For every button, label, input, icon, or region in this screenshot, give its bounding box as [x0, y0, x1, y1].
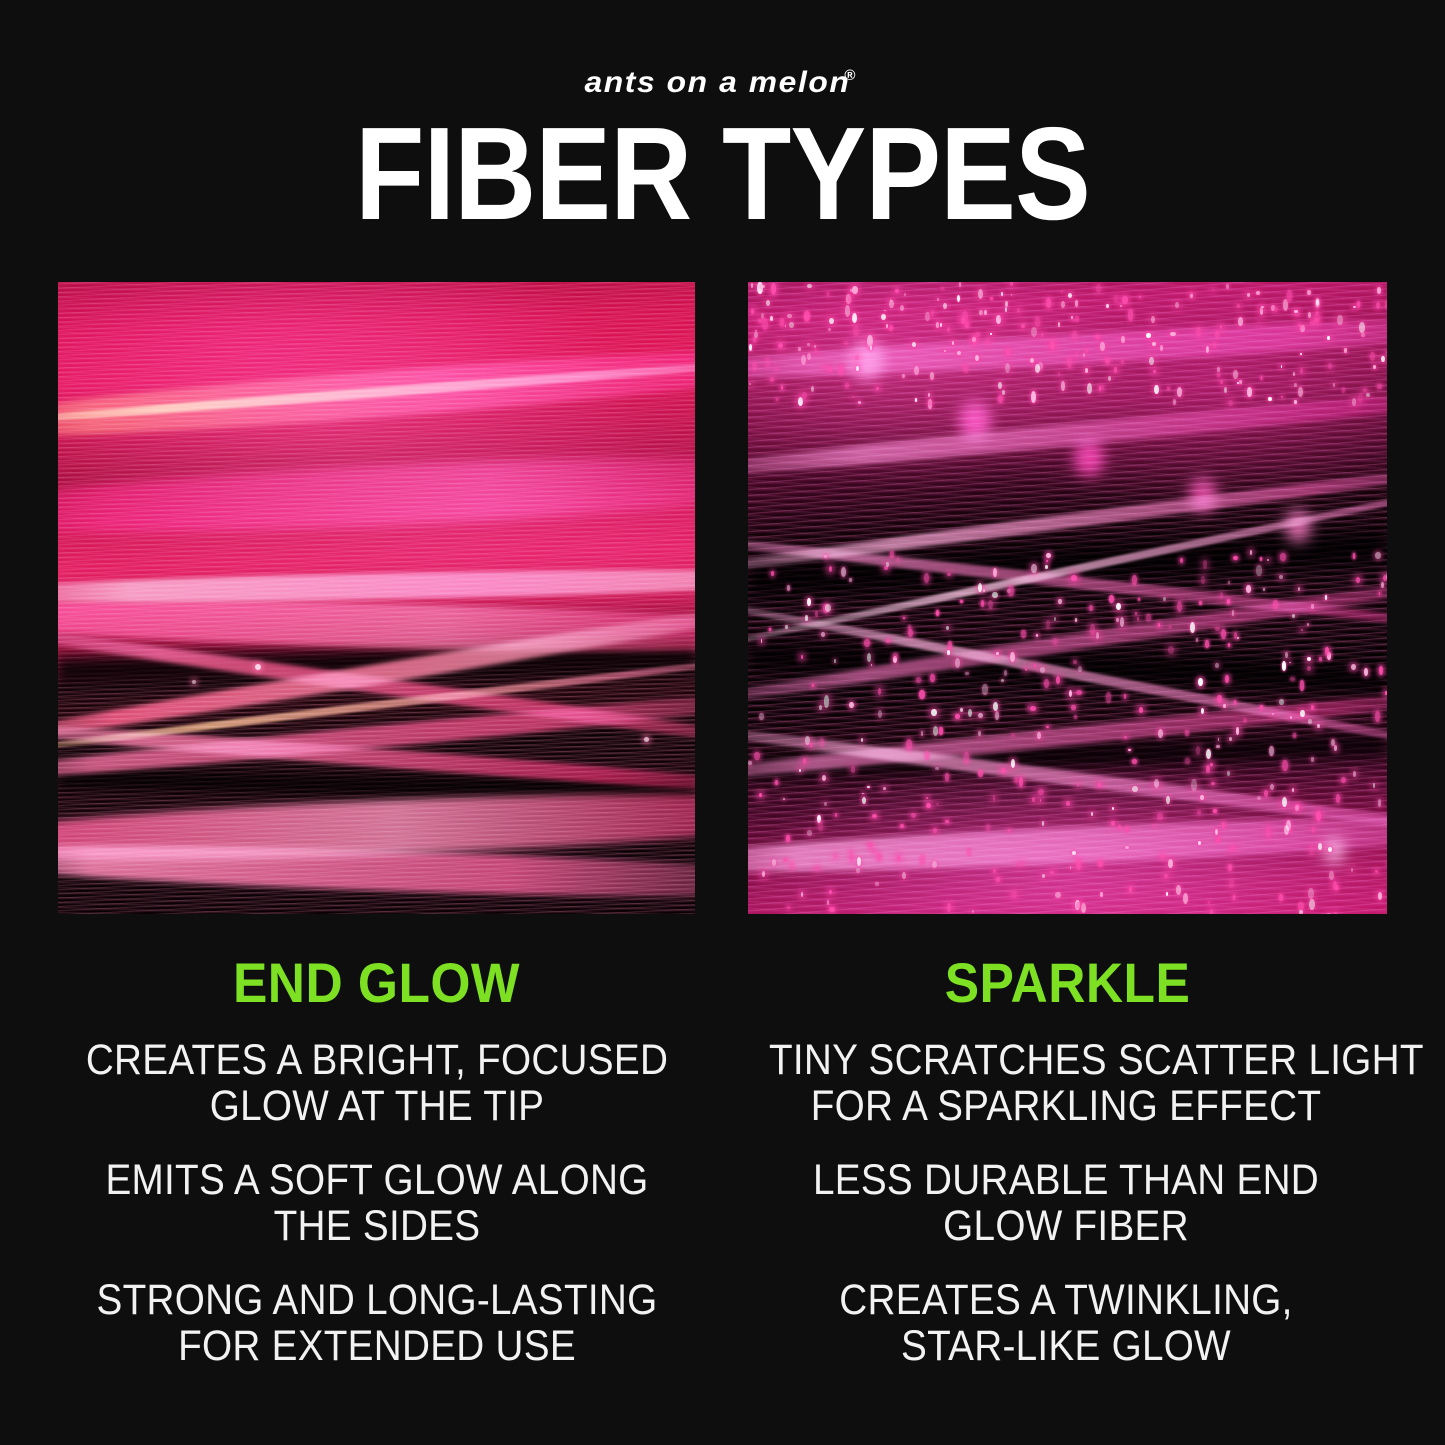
sparkle-dot — [1010, 282, 1013, 286]
sparkle-dot — [1042, 821, 1044, 825]
bullet-line: STRONG AND LONG-LASTING — [85, 1277, 670, 1323]
sparkle-dot — [1198, 841, 1201, 845]
sparkle-dot — [1377, 384, 1382, 389]
sparkle-dot — [1019, 863, 1022, 865]
sparkle-dot — [902, 374, 905, 378]
sparkle-dot — [1298, 387, 1303, 397]
sparkle-dot — [1046, 560, 1048, 562]
sparkle-dot — [1279, 894, 1283, 901]
bullet-line: LESS DURABLE THAN END — [769, 1157, 1363, 1203]
sparkle-dot — [1046, 620, 1050, 629]
sparkle-dot — [1298, 587, 1300, 591]
sparkle-dot — [1046, 726, 1049, 729]
sparkle-dot — [1358, 393, 1363, 403]
sparkle-dot — [943, 303, 947, 309]
sparkle-dot — [1109, 595, 1114, 602]
sparkle-dot — [1216, 837, 1220, 844]
sparkle-dot — [1218, 738, 1220, 741]
sparkle-dot — [955, 658, 960, 668]
sparkle-dot — [925, 751, 929, 760]
sparkle-dot — [1128, 749, 1130, 751]
list-item: STRONG AND LONG-LASTING FOR EXTENDED USE — [85, 1277, 670, 1369]
sparkle-dot — [1301, 629, 1303, 631]
sparkle-dot — [815, 349, 817, 353]
brand-logo: ants on a melon® — [0, 68, 1445, 98]
sparkle-dot — [819, 705, 822, 710]
sparkle-dot — [936, 803, 938, 805]
sparkle-dot — [1375, 711, 1380, 722]
sparkle-dot — [1089, 605, 1093, 611]
sparkle-dot — [1292, 614, 1295, 619]
column-heading-end-glow: END GLOW — [83, 955, 669, 1011]
sparkle-dot — [1168, 646, 1174, 655]
sparkle-dot — [878, 710, 882, 718]
sparkle-dot — [1146, 333, 1151, 338]
bokeh-highlight — [959, 402, 991, 440]
sparkle-dot — [1293, 733, 1296, 739]
sparkle-dot — [1120, 617, 1124, 627]
sparkle-dot — [1311, 705, 1314, 710]
sparkle-dot — [1267, 559, 1269, 561]
sparkle-dot — [1246, 585, 1251, 593]
sparkle-dot — [821, 632, 825, 637]
sparkle-dot — [1137, 617, 1139, 621]
sparkle-dot — [802, 392, 807, 400]
sparkle-dot — [1373, 365, 1376, 369]
sparkle-dot — [911, 813, 916, 818]
bullet-line: GLOW AT THE TIP — [85, 1083, 670, 1129]
sparkle-dot — [1106, 304, 1109, 308]
sparkle-dot — [1021, 630, 1025, 638]
sparkle-dot — [1307, 290, 1311, 294]
sparkle-dot — [1101, 385, 1104, 390]
sparkle-dot — [1334, 912, 1337, 914]
sparkle-dot — [1153, 370, 1156, 373]
sparkle-dot — [1076, 690, 1082, 695]
sparkle-dot — [775, 780, 778, 786]
fiber-tip-glow — [192, 680, 196, 684]
sparkle-dot — [827, 292, 829, 296]
sparkle-dot — [1129, 887, 1132, 893]
sparkle-dot — [931, 310, 935, 317]
sparkle-dot — [1247, 293, 1250, 297]
sparkle-dot — [852, 396, 855, 398]
sparkle-dot — [1030, 706, 1036, 711]
sparkle-dot — [1114, 295, 1119, 303]
sparkle-dot — [1290, 716, 1292, 719]
sparkle-dot — [1378, 799, 1382, 807]
sparkle-dot — [1375, 552, 1381, 559]
sparkle-dot — [1091, 812, 1093, 816]
sparkle-dot — [850, 854, 854, 862]
sparkle-dot — [1284, 825, 1289, 835]
sparkle-dot — [1076, 902, 1081, 910]
sparkle-dot — [807, 353, 811, 361]
sparkle-dot — [1035, 317, 1040, 327]
sparkle-dot — [919, 690, 925, 699]
sparkle-dot — [1279, 699, 1283, 705]
sparkle-dot — [947, 650, 950, 655]
page-title: FIBER TYPES — [101, 108, 1344, 240]
sparkle-dot — [1006, 349, 1010, 355]
sparkle-dot — [807, 284, 811, 288]
sparkle-dot — [1001, 292, 1003, 296]
sparkle-dot — [1028, 706, 1030, 708]
sparkle-dot — [1327, 336, 1330, 340]
bullet-line: TINY SCRATCHES SCATTER LIGHT — [769, 1037, 1363, 1083]
sparkle-dot — [998, 395, 1003, 403]
sparkle-dot — [1017, 308, 1020, 312]
sparkle-dot — [914, 366, 919, 375]
sparkle-dot — [815, 866, 819, 871]
sparkle-dot — [1154, 779, 1159, 788]
sparkle-dot — [1031, 564, 1036, 573]
sparkle-dot — [886, 639, 890, 644]
sparkle-dot — [758, 319, 762, 322]
sparkle-dot — [978, 731, 981, 736]
sparkle-dot — [759, 713, 764, 721]
sparkle-dot — [1314, 318, 1319, 324]
sparkle-dot — [844, 341, 848, 345]
sparkle-dot — [1055, 892, 1061, 898]
sparkle-dot — [1293, 372, 1295, 376]
sparkle-dot — [1237, 637, 1239, 639]
sparkle-dot — [1160, 345, 1163, 351]
sparkle-dot — [1308, 719, 1312, 724]
sparkle-dot — [1176, 885, 1181, 895]
sparkle-dot — [1287, 290, 1293, 302]
sparkle-dot — [965, 322, 969, 328]
sparkle-dot — [1256, 565, 1261, 576]
sparkle-dot — [992, 592, 998, 598]
sparkle-dot — [867, 786, 870, 789]
sparkle-dot — [1260, 557, 1263, 561]
sparkle-dot — [1386, 351, 1387, 355]
sparkle-dot — [978, 713, 983, 718]
sparkle-dot — [993, 795, 995, 800]
sparkle-dot — [986, 824, 990, 831]
sparkle-dot — [1073, 660, 1077, 664]
sparkle-dot — [933, 828, 936, 834]
sparkle-dot — [829, 890, 832, 894]
sparkle-dot — [1116, 603, 1121, 610]
sparkle-dot — [1260, 307, 1264, 315]
sparkle-dot — [1201, 708, 1204, 714]
sparkle-dot — [1233, 370, 1238, 379]
sparkle-dot — [946, 626, 949, 630]
bullet-list-sparkle: TINY SCRATCHES SCATTER LIGHT FOR A SPARK… — [769, 1037, 1363, 1397]
sparkle-dot — [1008, 829, 1010, 832]
sparkle-dot — [877, 853, 882, 861]
list-item: CREATES A BRIGHT, FOCUSED GLOW AT THE TI… — [85, 1037, 670, 1129]
sparkle-dot — [1280, 553, 1285, 561]
sparkle-dot — [978, 770, 983, 777]
sparkle-dot — [1381, 582, 1384, 589]
sparkle-dot — [1319, 657, 1321, 661]
sparkle-dot — [1356, 577, 1360, 583]
sparkle-dot — [784, 859, 787, 861]
sparkle-dot — [1378, 892, 1382, 900]
sparkle-dot — [1223, 704, 1225, 708]
sparkle-dot — [964, 752, 969, 763]
bullet-line: CREATES A TWINKLING, — [769, 1277, 1363, 1323]
sparkle-dot — [1166, 892, 1168, 896]
column-heading-sparkle: SPARKLE — [774, 955, 1362, 1011]
sparkle-dot — [1031, 327, 1037, 337]
sparkle-dot — [1114, 367, 1117, 372]
sparkle-dot — [1098, 860, 1102, 867]
sparkle-dot — [1213, 342, 1216, 348]
sparkle-dot — [1074, 715, 1077, 719]
sparkle-dot — [1211, 782, 1214, 785]
sparkle-dot — [1031, 391, 1036, 403]
sparkle-dot — [1379, 666, 1384, 676]
sparkle-dot — [1183, 893, 1188, 904]
sparkle-dot — [838, 365, 844, 375]
sparkle-dot — [1282, 797, 1287, 807]
sparkle-dot — [931, 709, 937, 716]
sparkle-dot — [982, 684, 987, 695]
sparkle-dot — [968, 709, 972, 717]
sparkle-dot — [1386, 573, 1387, 580]
sparkle-dot — [1261, 306, 1264, 309]
sparkle-dot — [1072, 331, 1077, 340]
sparkle-dot — [1300, 710, 1305, 717]
sparkle-dot — [1005, 363, 1010, 373]
sparkle-dot — [993, 568, 997, 577]
sparkle-dot — [1215, 829, 1218, 835]
sparkle-dot — [1266, 826, 1271, 837]
sparkle-dot — [1037, 732, 1041, 739]
sparkle-dot — [765, 358, 770, 368]
sparkle-dot — [858, 401, 862, 404]
sparkle-dot — [1021, 324, 1025, 329]
sparkle-dot — [1111, 821, 1116, 826]
sparkle-dot — [1210, 909, 1213, 914]
sparkle-dot — [1072, 851, 1076, 856]
sparkle-dot — [785, 625, 788, 629]
sparkle-dot — [1154, 385, 1159, 395]
sparkle-dot — [845, 305, 850, 317]
sparkle-dot — [965, 672, 969, 675]
sparkle-dot — [1213, 809, 1217, 813]
sparkle-dot — [978, 583, 982, 592]
sparkle-dot — [1196, 327, 1201, 338]
sparkle-dot — [807, 598, 811, 607]
sparkle-dot — [1050, 340, 1055, 350]
sparkle-dot — [1138, 598, 1140, 601]
sparkle-dot — [759, 793, 762, 797]
sparkle-dot — [1005, 301, 1008, 307]
sparkle-dot — [1135, 612, 1137, 615]
sparkle-dot — [1294, 310, 1297, 313]
sparkle-dot — [1351, 664, 1356, 670]
sparkle-dot — [1085, 348, 1087, 353]
sparkle-dot — [845, 383, 849, 388]
sparkle-dot — [928, 401, 932, 406]
list-item: CREATES A TWINKLING, STAR-LIKE GLOW — [769, 1277, 1363, 1369]
sparkle-dot — [853, 326, 859, 337]
sparkle-dot — [916, 677, 921, 683]
sparkle-dot — [801, 892, 803, 897]
sparkle-dot — [1385, 691, 1387, 695]
sparkle-dot — [829, 566, 832, 572]
sparkle-dot — [1341, 777, 1346, 783]
sparkle-dot — [1299, 910, 1302, 914]
sparkle-dot — [1226, 284, 1229, 289]
sparkle-dot — [855, 355, 858, 360]
sparkle-dot — [876, 387, 879, 391]
sparkle-dot — [947, 903, 951, 912]
sparkle-dot — [762, 871, 765, 877]
sparkle-dot — [900, 824, 903, 828]
sparkle-dot — [872, 814, 877, 818]
sparkle-dot — [930, 674, 935, 683]
sparkle-dot — [890, 551, 895, 558]
sparkle-dot — [1256, 291, 1260, 295]
sparkle-dot — [1258, 322, 1260, 324]
sparkle-dot — [1096, 284, 1101, 293]
sparkle-dot — [1279, 575, 1283, 579]
sparkle-dot — [964, 368, 968, 373]
sparkle-dot — [1292, 788, 1294, 792]
sparkle-dot — [1046, 298, 1051, 308]
sparkle-dot — [1196, 638, 1198, 642]
bokeh-highlight — [1285, 510, 1311, 542]
sparkle-dot — [1032, 797, 1035, 802]
bullet-line: CREATES A BRIGHT, FOCUSED — [85, 1037, 670, 1083]
sparkle-dot — [1090, 624, 1095, 635]
sparkle-dot — [1225, 675, 1229, 683]
bullet-line: EMITS A SOFT GLOW ALONG — [85, 1157, 670, 1203]
sparkle-dot — [1336, 886, 1338, 890]
sparkle-dot — [1215, 663, 1219, 668]
sparkle-dot — [912, 342, 916, 347]
sparkle-dot — [1282, 760, 1288, 771]
sparkle-dot — [1229, 879, 1234, 888]
sparkle-dot — [807, 830, 813, 836]
sparkle-dot — [1146, 614, 1151, 621]
sparkle-dot — [798, 347, 801, 351]
sparkle-dot — [1361, 333, 1365, 337]
sparkle-dot — [993, 702, 998, 711]
sparkle-dot — [1012, 734, 1014, 736]
sparkle-dot — [790, 862, 794, 870]
sparkle-dot — [1132, 759, 1137, 764]
sparkle-dot — [998, 382, 1002, 389]
sparkle-dot — [787, 314, 792, 319]
sparkle-dot — [1220, 325, 1222, 329]
sparkle-dot — [1290, 677, 1295, 681]
sparkle-dot — [889, 300, 894, 308]
registered-trademark-icon: ® — [844, 68, 855, 83]
sparkle-dot — [1385, 301, 1387, 309]
sparkle-dot — [925, 312, 929, 321]
sparkle-dot — [933, 726, 938, 736]
sparkle-dot — [1311, 757, 1315, 762]
sparkle-dot — [1190, 294, 1193, 298]
sparkle-dot — [781, 385, 783, 389]
sparkle-dot — [1307, 657, 1311, 661]
sparkle-dot — [1217, 367, 1221, 372]
sparkle-dot — [1328, 847, 1332, 852]
sparkle-dot — [906, 739, 912, 750]
sparkle-dot — [1260, 705, 1264, 709]
sparkle-dot — [1002, 390, 1005, 394]
brand-name: ants on a melon — [584, 68, 850, 98]
sparkle-dot — [772, 859, 777, 866]
list-item: TINY SCRATCHES SCATTER LIGHT FOR A SPARK… — [769, 1037, 1363, 1129]
sparkle-dot — [754, 332, 758, 338]
sparkle-dot — [926, 803, 931, 809]
sparkle-dot — [828, 328, 830, 331]
sparkle-dot — [1158, 623, 1160, 627]
sparkle-dot — [762, 318, 768, 330]
sparkle-dot — [1122, 296, 1127, 304]
sparkle-dot — [1364, 668, 1369, 676]
sparkle-dot — [862, 797, 866, 805]
sparkle-dot — [930, 372, 935, 380]
sparkle-dot — [856, 366, 859, 371]
sparkle-dot — [1151, 316, 1155, 323]
sparkle-dot — [1220, 380, 1223, 384]
sparkle-dot — [1370, 352, 1375, 360]
sparkle-dot — [1264, 790, 1268, 797]
sparkle-dot — [1008, 586, 1014, 596]
bokeh-highlight — [1189, 478, 1217, 512]
sparkle-dot — [1067, 357, 1072, 369]
sparkle-dot — [825, 604, 831, 611]
list-item: LESS DURABLE THAN END GLOW FIBER — [769, 1157, 1363, 1249]
sparkle-dot — [849, 578, 852, 581]
sparkle-dot — [1132, 786, 1138, 792]
sparkle-dot — [1139, 707, 1143, 713]
sparkle-dot — [1149, 357, 1154, 366]
sparkle-dot — [1217, 373, 1219, 377]
sparkle-dot — [1168, 859, 1173, 868]
sparkle-dot — [1166, 796, 1170, 804]
sparkle-dot — [1167, 387, 1169, 389]
sparkle-dot — [936, 322, 940, 328]
sparkle-dot — [1228, 643, 1231, 647]
sparkle-dot — [945, 773, 949, 781]
sparkle-dot — [985, 339, 990, 345]
sparkle-dot — [780, 318, 784, 327]
sparkle-dot — [1185, 758, 1190, 764]
bullet-list-end-glow: CREATES A BRIGHT, FOCUSED GLOW AT THE TI… — [85, 1037, 670, 1397]
bullet-line: THE SIDES — [85, 1203, 670, 1249]
sparkle-dot — [957, 295, 960, 303]
sparkle-dot — [889, 325, 893, 332]
sparkle-dot — [1217, 695, 1221, 704]
sparkle-dot — [1011, 891, 1017, 898]
sparkle-dot — [1337, 315, 1343, 326]
sparkle-dot — [1210, 763, 1213, 766]
sparkle-dot — [996, 877, 1000, 881]
sparkle-dot — [805, 615, 809, 620]
sparkle-dot — [1329, 871, 1335, 880]
sparkle-dot — [993, 869, 996, 872]
sparkle-dot — [1376, 302, 1380, 309]
sparkle-dot — [1038, 789, 1044, 796]
sparkle-dot — [754, 752, 760, 761]
sparkle-dot — [749, 383, 751, 385]
sparkle-dot — [804, 311, 809, 320]
sparkle-dot — [1108, 376, 1111, 381]
sparkle-photo — [748, 282, 1387, 914]
sparkle-dot — [852, 313, 857, 323]
sparkle-dot — [1157, 813, 1163, 820]
